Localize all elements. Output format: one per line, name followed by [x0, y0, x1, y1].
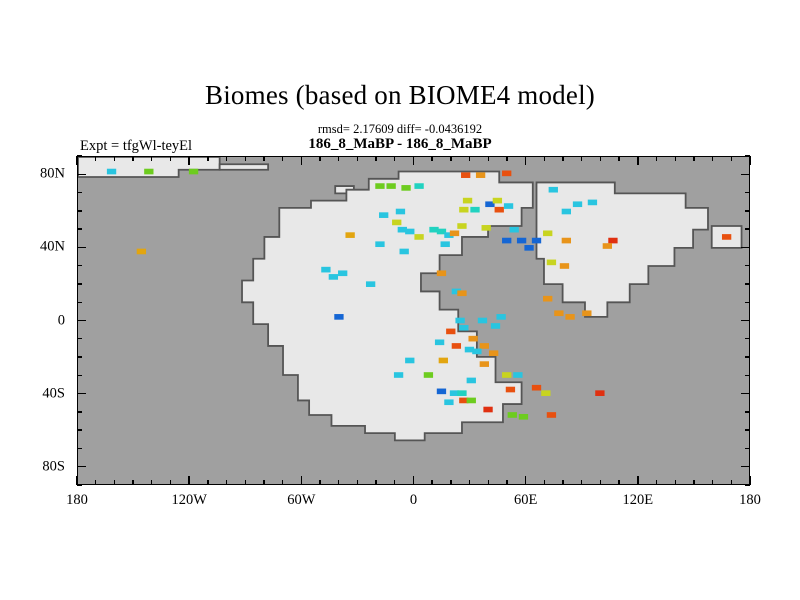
biome-cell	[480, 343, 489, 349]
x-axis-label: 120E	[593, 492, 683, 509]
biome-cell	[482, 225, 491, 231]
x-tick-bottom	[506, 480, 507, 485]
x-tick-bottom	[413, 476, 414, 485]
y-tick-right	[745, 338, 750, 339]
biome-cell	[489, 350, 498, 356]
biome-cell	[414, 234, 423, 240]
x-tick-top	[170, 156, 171, 161]
x-tick-top	[375, 156, 376, 161]
x-tick-bottom	[600, 480, 601, 485]
x-tick-bottom	[114, 480, 115, 485]
x-axis-label: 180	[705, 492, 795, 509]
x-tick-top	[581, 156, 582, 161]
biome-cell	[506, 387, 515, 393]
x-tick-top	[450, 156, 451, 161]
figure-root: Biomes (based on BIOME4 model) rmsd= 2.1…	[0, 0, 800, 600]
biome-cell	[467, 398, 476, 404]
biome-cell	[400, 249, 409, 255]
y-tick-left	[77, 155, 82, 156]
biome-cell	[441, 241, 450, 247]
x-axis-label: 180	[32, 492, 122, 509]
biome-cell	[519, 414, 528, 420]
biome-cell	[496, 314, 505, 320]
biome-cell	[379, 212, 388, 218]
x-tick-bottom	[319, 480, 320, 485]
biome-cell	[375, 183, 384, 189]
y-tick-right	[745, 265, 750, 266]
y-axis-label: 80N	[9, 166, 65, 183]
x-tick-top	[357, 156, 358, 161]
x-tick-top	[693, 156, 694, 161]
biome-cell	[603, 243, 612, 249]
y-tick-left	[77, 338, 82, 339]
biome-cell	[549, 187, 558, 193]
y-tick-right	[745, 484, 750, 485]
x-tick-bottom	[431, 480, 432, 485]
y-tick-left	[77, 466, 86, 467]
biome-cell	[547, 260, 556, 266]
x-tick-top	[263, 156, 264, 161]
biome-cell	[338, 270, 347, 276]
biome-cell	[457, 390, 466, 396]
x-tick-top	[637, 156, 638, 165]
y-axis-label: 40N	[9, 239, 65, 256]
x-tick-top	[488, 156, 489, 161]
x-tick-bottom	[170, 480, 171, 485]
biome-cell	[509, 227, 518, 233]
y-tick-left	[77, 484, 82, 485]
x-axis-label: 60W	[256, 492, 346, 509]
x-tick-bottom	[618, 480, 619, 485]
y-tick-right	[745, 210, 750, 211]
page-title: Biomes (based on BIOME4 model)	[0, 80, 800, 111]
x-tick-bottom	[637, 476, 638, 485]
y-tick-left	[77, 448, 82, 449]
biome-cell	[517, 238, 526, 244]
x-tick-top	[413, 156, 414, 165]
x-tick-bottom	[544, 480, 545, 485]
biome-cell	[446, 329, 455, 335]
y-tick-right	[745, 411, 750, 412]
x-tick-bottom	[245, 480, 246, 485]
biome-cell	[444, 399, 453, 405]
y-tick-right	[745, 302, 750, 303]
biome-cell	[345, 232, 354, 238]
biome-cell	[480, 361, 489, 367]
biome-cell	[321, 267, 330, 273]
biome-cell	[472, 349, 481, 355]
map-plot-area	[77, 156, 750, 485]
y-tick-left	[77, 393, 86, 394]
biome-cell	[386, 183, 395, 189]
x-tick-top	[338, 156, 339, 161]
biome-cell	[588, 200, 597, 206]
x-tick-top	[618, 156, 619, 161]
biome-cell	[405, 358, 414, 364]
biome-cell	[459, 207, 468, 213]
biome-cell	[595, 390, 604, 396]
x-tick-bottom	[95, 480, 96, 485]
x-tick-top	[394, 156, 395, 161]
y-tick-left	[77, 210, 82, 211]
x-tick-top	[282, 156, 283, 161]
map-canvas	[78, 157, 749, 484]
biome-cell	[452, 343, 461, 349]
biome-cell	[502, 238, 511, 244]
x-tick-top	[226, 156, 227, 161]
biome-cell	[405, 229, 414, 235]
y-tick-right	[745, 155, 750, 156]
x-tick-bottom	[357, 480, 358, 485]
x-tick-bottom	[207, 480, 208, 485]
biome-cell	[495, 207, 504, 213]
biome-cell	[394, 372, 403, 378]
biome-cell	[470, 207, 479, 213]
x-tick-bottom	[450, 480, 451, 485]
x-tick-top	[562, 156, 563, 161]
biome-cell	[582, 310, 591, 316]
x-tick-bottom	[562, 480, 563, 485]
x-axis-label: 60E	[481, 492, 571, 509]
biome-cell	[560, 263, 569, 269]
biome-cell	[459, 325, 468, 331]
x-tick-bottom	[151, 480, 152, 485]
x-tick-top	[431, 156, 432, 161]
x-tick-bottom	[282, 480, 283, 485]
y-tick-left	[77, 174, 86, 175]
biome-cell	[439, 358, 448, 364]
x-tick-top	[132, 156, 133, 161]
x-tick-top	[469, 156, 470, 161]
biome-cell	[608, 238, 617, 244]
biome-cell	[450, 230, 459, 236]
biome-cell	[468, 336, 477, 342]
biome-cell	[137, 249, 146, 255]
x-tick-bottom	[375, 480, 376, 485]
y-tick-right	[745, 192, 750, 193]
y-tick-left	[77, 247, 86, 248]
x-tick-top	[712, 156, 713, 161]
y-tick-left	[77, 429, 82, 430]
x-tick-top	[207, 156, 208, 161]
biome-cell	[562, 238, 571, 244]
biome-cell	[189, 169, 198, 175]
x-tick-bottom	[263, 480, 264, 485]
biome-cell	[396, 209, 405, 215]
biome-cell	[437, 389, 446, 395]
biome-cell	[565, 314, 574, 320]
biome-cell	[437, 270, 446, 276]
x-tick-top	[95, 156, 96, 161]
x-tick-top	[544, 156, 545, 161]
y-tick-left	[77, 375, 82, 376]
x-tick-top	[301, 156, 302, 165]
biome-cell	[532, 238, 541, 244]
biome-cell	[541, 390, 550, 396]
biome-cell	[461, 172, 470, 178]
x-tick-bottom	[188, 476, 189, 485]
y-axis-label: 40S	[9, 385, 65, 402]
biome-cell	[455, 318, 464, 324]
x-tick-top	[188, 156, 189, 165]
x-tick-top	[506, 156, 507, 161]
biome-cell	[573, 201, 582, 207]
y-tick-right	[741, 393, 750, 394]
biome-cell	[424, 372, 433, 378]
biome-cell	[524, 245, 533, 251]
x-tick-bottom	[731, 480, 732, 485]
biome-cell	[513, 372, 522, 378]
y-tick-left	[77, 411, 82, 412]
y-tick-left	[77, 302, 82, 303]
biome-cell	[366, 281, 375, 287]
x-tick-top	[749, 156, 750, 165]
biome-cell	[457, 223, 466, 229]
y-tick-right	[741, 466, 750, 467]
x-axis-label: 0	[369, 492, 459, 509]
y-tick-left	[77, 192, 82, 193]
experiment-label: Expt = tfgWl-teyEl	[80, 138, 192, 155]
y-tick-right	[745, 429, 750, 430]
x-tick-bottom	[693, 480, 694, 485]
y-tick-left	[77, 356, 82, 357]
x-tick-bottom	[656, 480, 657, 485]
x-tick-top	[600, 156, 601, 161]
biome-cell	[504, 203, 513, 209]
biome-cell	[144, 169, 153, 175]
y-tick-right	[745, 448, 750, 449]
x-tick-bottom	[394, 480, 395, 485]
biome-cell	[543, 230, 552, 236]
biome-cell	[722, 234, 731, 240]
y-tick-left	[77, 228, 82, 229]
x-tick-bottom	[226, 480, 227, 485]
x-tick-top	[245, 156, 246, 161]
y-tick-right	[741, 174, 750, 175]
biome-cell	[463, 198, 472, 204]
y-axis-label: 80S	[9, 458, 65, 475]
x-tick-bottom	[581, 480, 582, 485]
x-tick-bottom	[488, 480, 489, 485]
x-tick-bottom	[712, 480, 713, 485]
biome-cell	[502, 372, 511, 378]
biome-cell	[532, 385, 541, 391]
x-tick-bottom	[132, 480, 133, 485]
biome-cell	[467, 378, 476, 384]
x-tick-bottom	[301, 476, 302, 485]
y-tick-right	[745, 283, 750, 284]
y-tick-right	[745, 228, 750, 229]
y-tick-right	[741, 247, 750, 248]
biome-cell	[457, 290, 466, 296]
y-tick-right	[745, 375, 750, 376]
biome-cell	[329, 274, 338, 280]
biome-cell	[547, 412, 556, 418]
y-axis-label: 0	[9, 312, 65, 329]
y-tick-left	[77, 320, 86, 321]
x-tick-top	[656, 156, 657, 161]
x-tick-top	[76, 156, 77, 165]
biome-cell	[543, 296, 552, 302]
biome-cell	[401, 185, 410, 191]
y-tick-left	[77, 283, 82, 284]
x-tick-top	[114, 156, 115, 161]
x-tick-bottom	[675, 480, 676, 485]
biome-cell	[508, 412, 517, 418]
biome-cell	[375, 241, 384, 247]
biome-cell	[435, 339, 444, 345]
x-tick-bottom	[469, 480, 470, 485]
stats-subtitle: rmsd= 2.17609 diff= -0.0436192	[0, 122, 800, 137]
biome-cell	[554, 310, 563, 316]
y-tick-right	[745, 356, 750, 357]
land-polygon	[220, 164, 268, 169]
x-tick-top	[319, 156, 320, 161]
biome-cell	[414, 183, 423, 189]
biome-cell	[107, 169, 116, 175]
x-axis-label: 120W	[144, 492, 234, 509]
x-tick-bottom	[525, 476, 526, 485]
y-tick-right	[741, 320, 750, 321]
x-tick-top	[525, 156, 526, 165]
x-tick-top	[675, 156, 676, 161]
biome-cell	[476, 172, 485, 178]
biome-cell	[392, 220, 401, 226]
x-tick-top	[151, 156, 152, 161]
x-tick-bottom	[338, 480, 339, 485]
y-tick-left	[77, 265, 82, 266]
biome-cell	[334, 314, 343, 320]
biome-cell	[562, 209, 571, 215]
biome-cell	[483, 407, 492, 413]
biome-cell	[478, 318, 487, 324]
biome-cell	[493, 198, 502, 204]
biome-cell	[502, 171, 511, 177]
biome-cell	[491, 323, 500, 329]
x-tick-top	[731, 156, 732, 161]
